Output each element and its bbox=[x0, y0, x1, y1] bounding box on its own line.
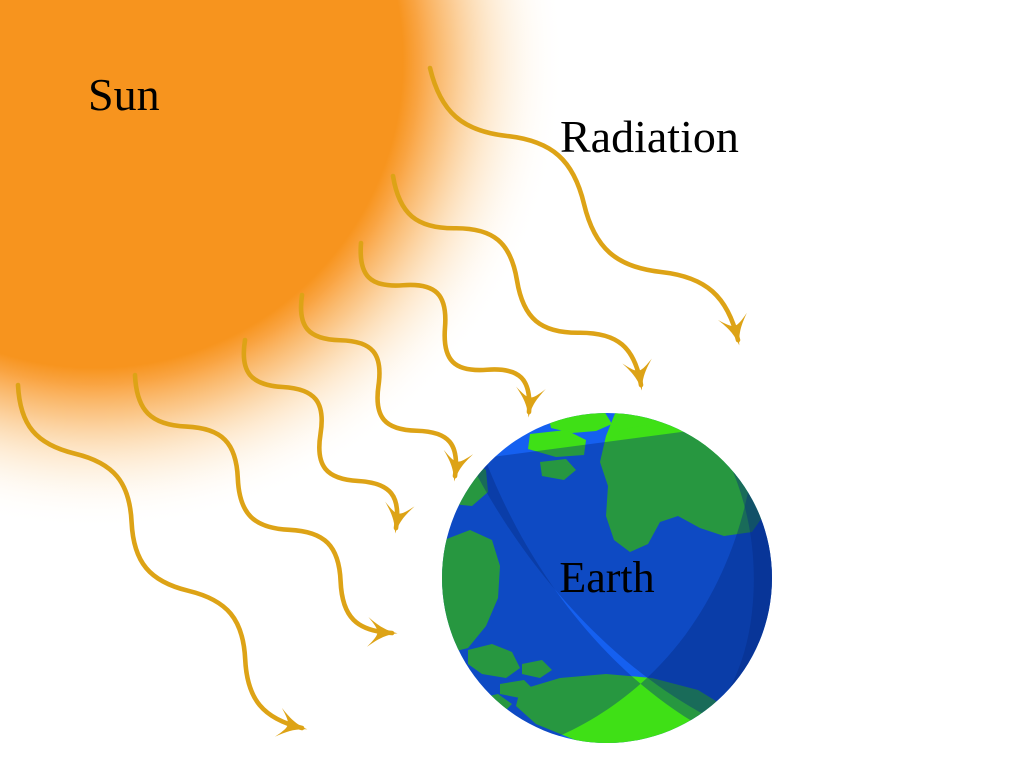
sun-glow bbox=[0, 0, 565, 530]
earth-group: Earth bbox=[430, 390, 800, 766]
sun-earth-radiation-diagram: Sun Radiation bbox=[0, 0, 1024, 768]
radiation-label: Radiation bbox=[560, 111, 739, 162]
diagram-canvas: Sun Radiation bbox=[0, 0, 1024, 768]
sun-group: Sun bbox=[0, 0, 565, 530]
sun-label: Sun bbox=[88, 69, 160, 120]
earth-label: Earth bbox=[559, 553, 654, 602]
